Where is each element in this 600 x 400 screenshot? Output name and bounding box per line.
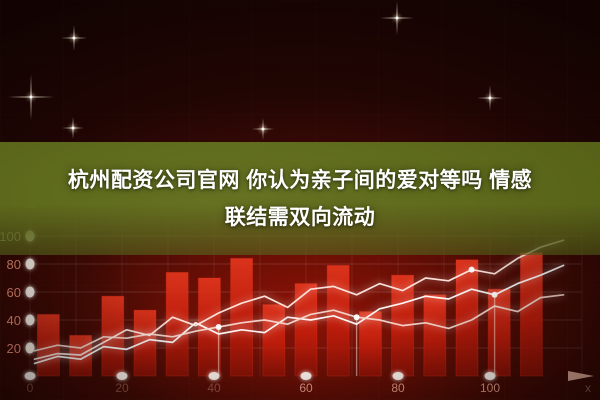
page-title: 杭州配资公司官网 你认为亲子间的爱对等吗 情感 联结需双向流动: [0, 162, 600, 236]
screenshot-canvas: 020406080100x20406080100 杭州配资公司官网 你认为亲子间…: [0, 0, 600, 400]
title-line-2: 联结需双向流动: [0, 199, 600, 236]
title-line-1: 杭州配资公司官网 你认为亲子间的爱对等吗 情感: [68, 169, 532, 192]
